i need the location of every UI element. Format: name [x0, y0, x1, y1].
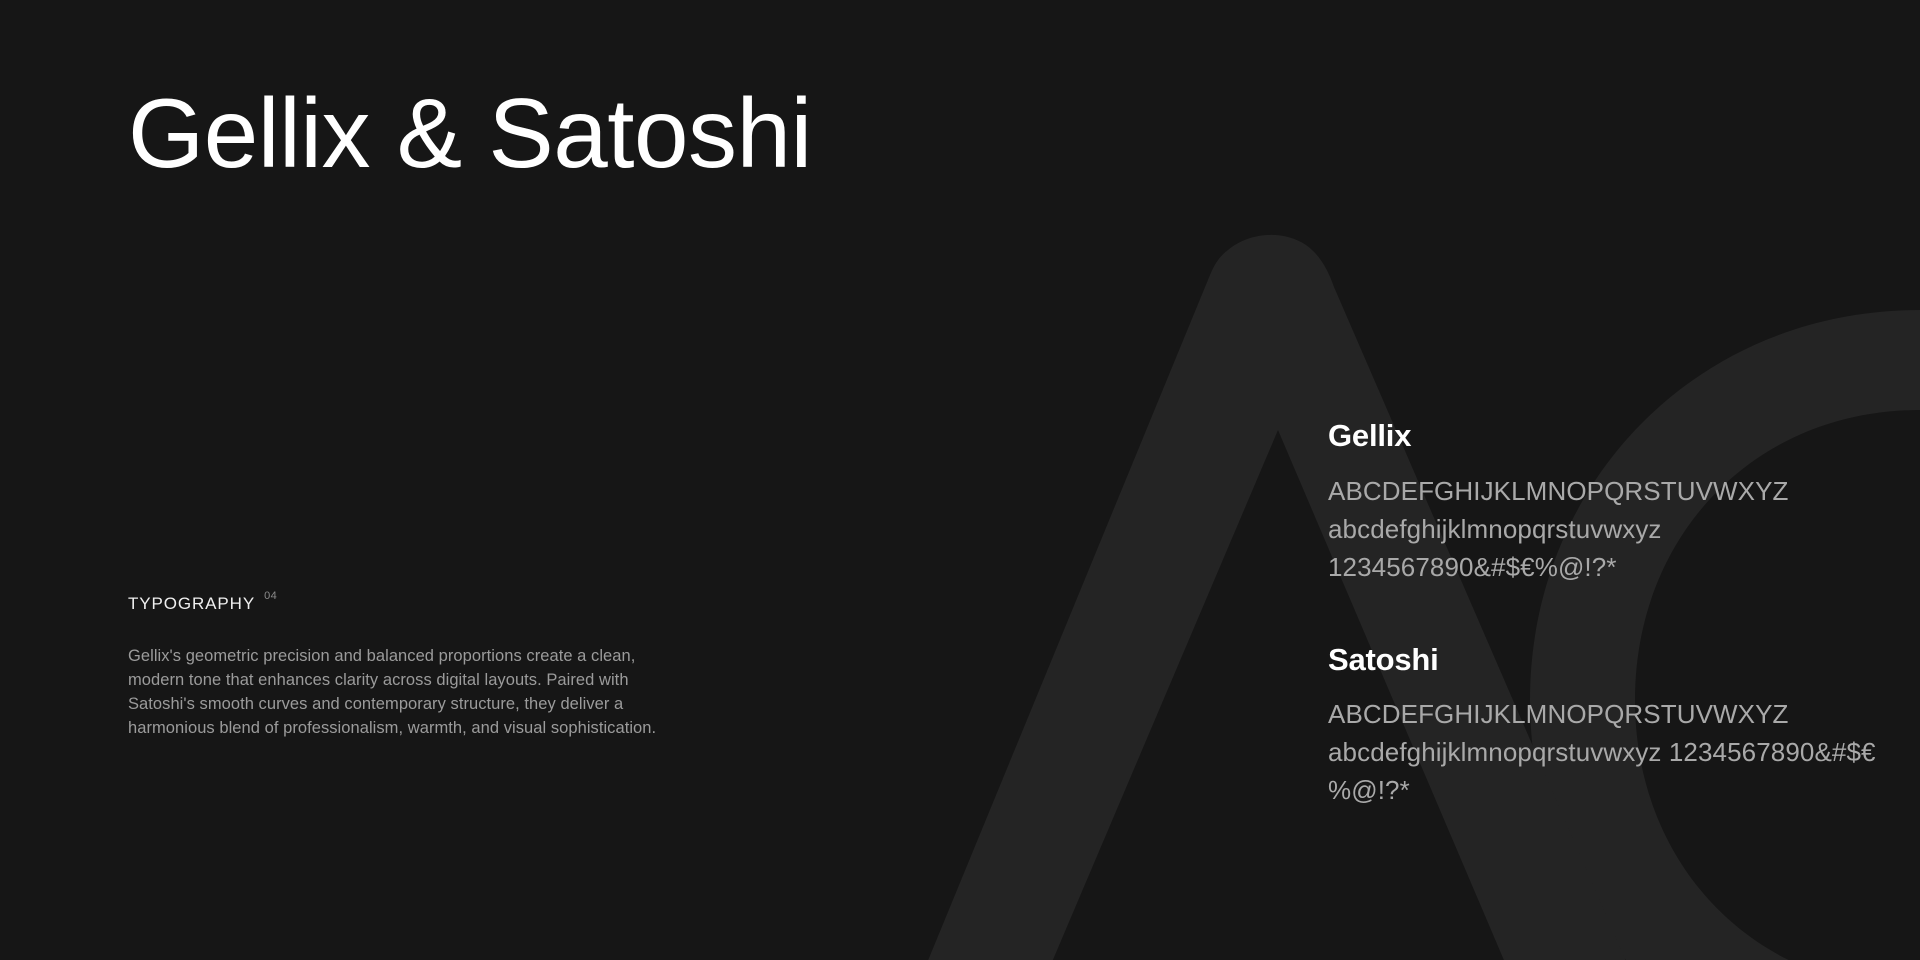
section-number: 04	[264, 591, 277, 602]
glyph-line-numerals: 1234567890&#$€%@!?*	[1328, 548, 1920, 586]
description-column: TYPOGRAPHY 04 Gellix's geometric precisi…	[128, 595, 688, 740]
specimen-name-satoshi: Satoshi	[1328, 642, 1920, 678]
specimen-column: Gellix ABCDEFGHIJKLMNOPQRSTUVWXYZ abcdef…	[1328, 418, 1920, 809]
glyph-line-lowercase: abcdefghijklmnopqrstuvwxyz	[1328, 510, 1920, 548]
section-label-text: TYPOGRAPHY	[128, 595, 255, 612]
specimen-name-gellix: Gellix	[1328, 418, 1920, 454]
typography-slide: Gellix & Satoshi TYPOGRAPHY 04 Gellix's …	[0, 0, 1920, 960]
section-paragraph: Gellix's geometric precision and balance…	[128, 644, 668, 740]
glyph-line-uppercase: ABCDEFGHIJKLMNOPQRSTUVWXYZ	[1328, 695, 1920, 733]
section-label: TYPOGRAPHY 04	[128, 595, 688, 612]
glyph-line-lowercase-numerals: abcdefghijklmnopqrstuvwxyz 1234567890&#$…	[1328, 737, 1876, 805]
specimen-glyphs-satoshi: ABCDEFGHIJKLMNOPQRSTUVWXYZ abcdefghijklm…	[1328, 695, 1920, 809]
page-title: Gellix & Satoshi	[128, 80, 812, 188]
specimen-satoshi: Satoshi ABCDEFGHIJKLMNOPQRSTUVWXYZ abcde…	[1328, 642, 1920, 810]
glyph-line-uppercase: ABCDEFGHIJKLMNOPQRSTUVWXYZ	[1328, 472, 1920, 510]
specimen-gellix: Gellix ABCDEFGHIJKLMNOPQRSTUVWXYZ abcdef…	[1328, 418, 1920, 586]
specimen-glyphs-gellix: ABCDEFGHIJKLMNOPQRSTUVWXYZ abcdefghijklm…	[1328, 472, 1920, 586]
